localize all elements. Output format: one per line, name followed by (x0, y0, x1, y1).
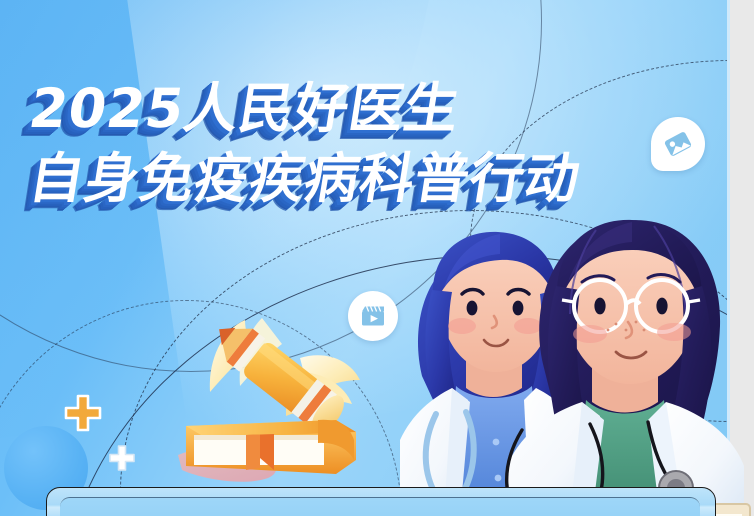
title-line-year-campaign: 2025人民好医生 (26, 82, 585, 136)
title-line-subject: 自身免疫疾病科普行动 (26, 152, 585, 206)
page-title: 2025人民好医生 自身免疫疾病科普行动 (30, 82, 580, 206)
medical-cross-icon (62, 392, 104, 434)
cross-white (107, 443, 137, 473)
photo-image-icon (663, 129, 693, 159)
medical-cross-icon (107, 443, 137, 473)
video-clapperboard-icon (359, 302, 387, 330)
video-badge[interactable] (348, 291, 398, 341)
poster-banner: 2025人民好医生 自身免疫疾病科普行动 (0, 0, 754, 516)
doctors-illustration (404, 216, 754, 516)
photo-badge[interactable] (651, 117, 705, 171)
cross-orange (62, 392, 104, 434)
orange-book (186, 420, 356, 474)
stationery-illustration (150, 300, 380, 516)
counter-desk-inner-panel (60, 497, 700, 516)
